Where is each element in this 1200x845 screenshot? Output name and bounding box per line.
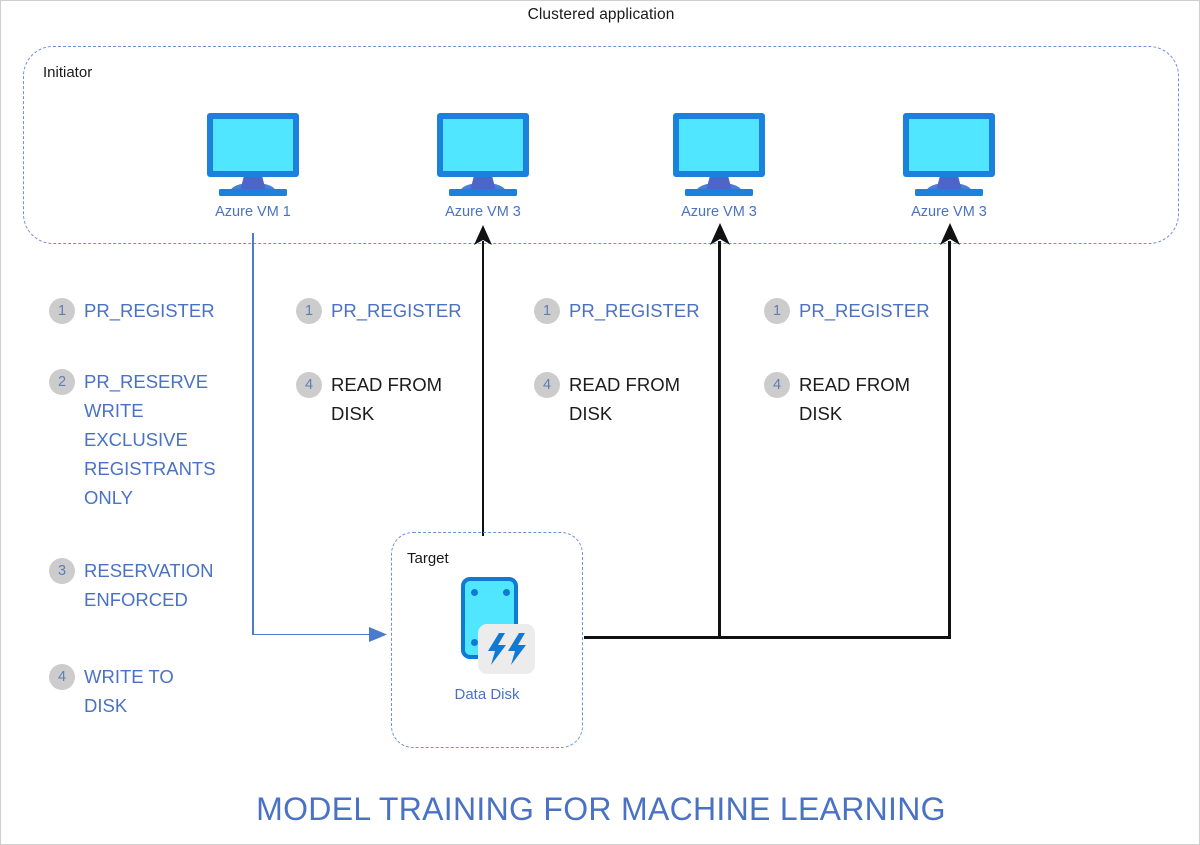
vm-node-3[interactable]: Azure VM 3 <box>659 113 779 220</box>
step-label: PR_REGISTER <box>569 296 700 325</box>
data-disk-label: Data Disk <box>416 686 558 703</box>
step-label: RESERVATION ENFORCED <box>84 556 214 614</box>
vm-label-3: Azure VM 3 <box>659 204 779 220</box>
bottom-title: MODEL TRAINING FOR MACHINE LEARNING <box>1 791 1200 828</box>
monitor-icon <box>437 113 529 195</box>
step-label: PR_REGISTER <box>799 296 930 325</box>
lightning-bolt-icon <box>478 624 535 674</box>
data-disk-node[interactable]: Data Disk <box>416 577 558 703</box>
connector-vm1-horizontal <box>252 634 374 636</box>
connector-vm4-vertical <box>948 241 951 637</box>
step-number-badge: 4 <box>534 372 560 398</box>
step-number-badge: 4 <box>764 372 790 398</box>
arrowhead-to-vm4 <box>939 223 961 245</box>
arrowhead-to-vm3 <box>709 223 731 245</box>
data-disk-icon <box>433 577 541 682</box>
vm-node-4[interactable]: Azure VM 3 <box>889 113 1009 220</box>
step-number-badge: 4 <box>296 372 322 398</box>
step-label: WRITE TO DISK <box>84 662 174 720</box>
vm-node-1[interactable]: Azure VM 1 <box>193 113 313 220</box>
step-item: 4 READ FROM DISK <box>296 372 442 428</box>
connector-vm3-vertical <box>718 241 721 637</box>
initiator-label: Initiator <box>43 64 92 81</box>
connector-vm1-vertical <box>252 233 254 635</box>
clustered-application-title: Clustered application <box>1 6 1200 24</box>
step-label: PR_REGISTER <box>331 296 462 325</box>
step-number-badge: 1 <box>764 298 790 324</box>
target-label: Target <box>407 550 449 567</box>
step-label: READ FROM DISK <box>569 370 680 428</box>
step-item: 4 READ FROM DISK <box>764 372 910 428</box>
vm-label-4: Azure VM 3 <box>889 204 1009 220</box>
step-item: 2 PR_RESERVE WRITE EXCLUSIVE REGISTRANTS… <box>49 369 216 512</box>
vm-label-2: Azure VM 3 <box>423 204 543 220</box>
step-label: PR_RESERVE WRITE EXCLUSIVE REGISTRANTS O… <box>84 367 216 512</box>
step-item: 4 WRITE TO DISK <box>49 664 174 720</box>
step-number-badge: 3 <box>49 558 75 584</box>
step-item: 1 PR_REGISTER <box>49 298 215 325</box>
connector-disk-bus-horizontal <box>584 636 951 639</box>
monitor-icon <box>673 113 765 195</box>
step-number-badge: 1 <box>49 298 75 324</box>
step-item: 1 PR_REGISTER <box>296 298 462 325</box>
step-number-badge: 1 <box>534 298 560 324</box>
monitor-icon <box>207 113 299 195</box>
vm-node-2[interactable]: Azure VM 3 <box>423 113 543 220</box>
step-item: 1 PR_REGISTER <box>764 298 930 325</box>
step-item: 3 RESERVATION ENFORCED <box>49 558 214 614</box>
step-label: READ FROM DISK <box>331 370 442 428</box>
step-label: PR_REGISTER <box>84 296 215 325</box>
vm-label-1: Azure VM 1 <box>193 204 313 220</box>
diagram-canvas: Clustered application Initiator Azure VM… <box>0 0 1200 845</box>
step-number-badge: 1 <box>296 298 322 324</box>
step-number-badge: 4 <box>49 664 75 690</box>
step-number-badge: 2 <box>49 369 75 395</box>
monitor-icon <box>903 113 995 195</box>
connector-vm2-vertical <box>482 241 484 536</box>
step-item: 1 PR_REGISTER <box>534 298 700 325</box>
arrowhead-to-target <box>369 625 391 645</box>
step-item: 4 READ FROM DISK <box>534 372 680 428</box>
arrowhead-to-vm2 <box>473 225 493 245</box>
step-label: READ FROM DISK <box>799 370 910 428</box>
